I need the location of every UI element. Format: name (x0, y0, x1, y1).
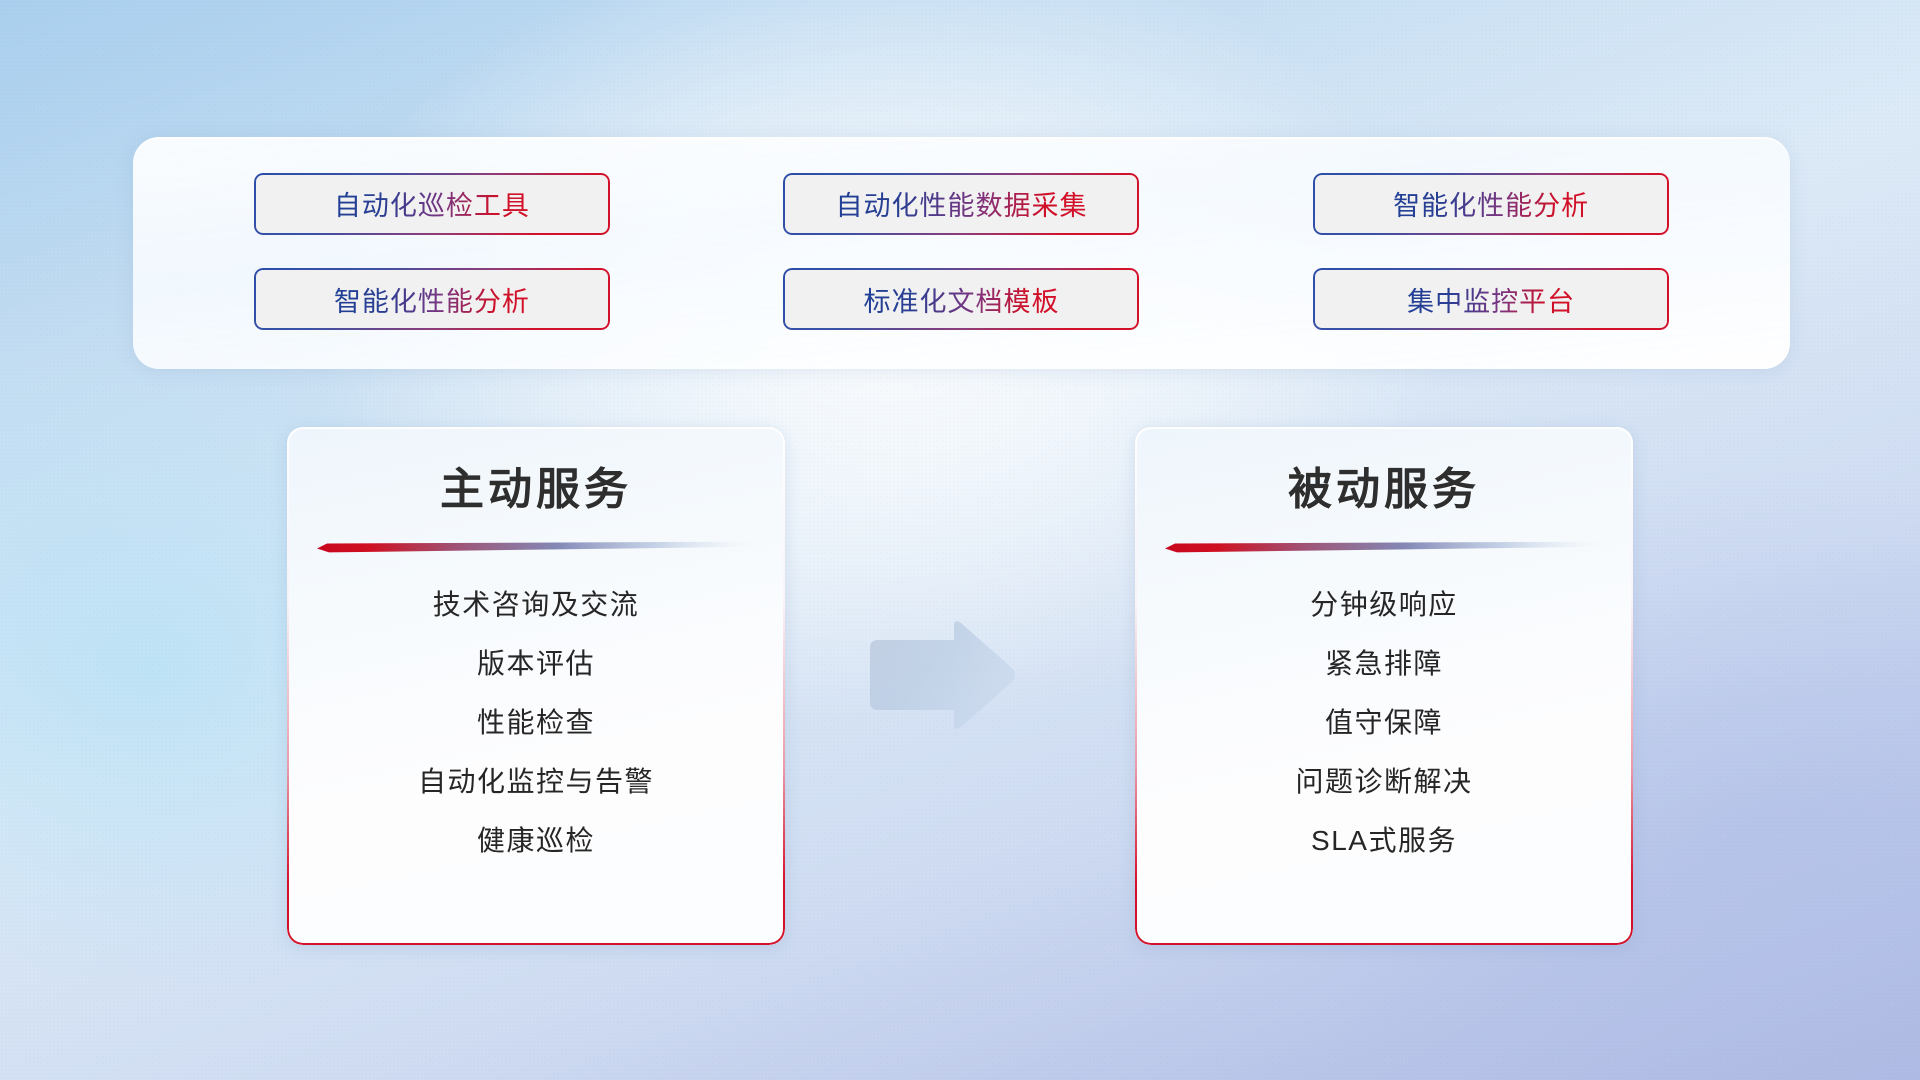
list-item: 版本评估 (477, 646, 595, 682)
capability-pill-label: 智能化性能分析 (334, 280, 530, 319)
service-card-reactive: 被动服务 分钟级响应 紧急排障 值守保障 问题诊断解决 SLA式服务 (1135, 427, 1633, 945)
capability-panel: 自动化巡检工具 自动化性能数据采集 智能化性能分析 智能化性能分析 标准化文档模… (133, 137, 1790, 369)
list-item: 技术咨询及交流 (433, 587, 640, 623)
capability-pill-5[interactable]: 标准化文档模板 (783, 268, 1139, 330)
list-item: 分钟级响应 (1310, 587, 1458, 623)
service-list: 分钟级响应 紧急排障 值守保障 问题诊断解决 SLA式服务 (1135, 577, 1633, 919)
card-title: 被动服务 (1135, 453, 1633, 517)
capability-pill-label: 智能化性能分析 (1393, 184, 1589, 223)
card-title: 主动服务 (287, 453, 785, 517)
capability-pill-2[interactable]: 自动化性能数据采集 (783, 173, 1139, 235)
capability-pill-label: 自动化巡检工具 (334, 184, 530, 223)
list-item: 健康巡检 (477, 823, 595, 859)
list-item: 紧急排障 (1325, 646, 1443, 682)
capability-pill-3[interactable]: 智能化性能分析 (1313, 173, 1669, 235)
capability-pill-label: 标准化文档模板 (863, 280, 1059, 319)
capability-pill-6[interactable]: 集中监控平台 (1313, 268, 1669, 330)
title-underline-gradient (1165, 541, 1601, 553)
capability-grid: 自动化巡检工具 自动化性能数据采集 智能化性能分析 智能化性能分析 标准化文档模… (133, 138, 1790, 369)
service-card-proactive: 主动服务 技术咨询及交流 版本评估 性能检查 自动化监控与告警 健康巡检 (287, 427, 785, 945)
flow-arrow-right-icon (862, 616, 1018, 734)
list-item: SLA式服务 (1311, 823, 1457, 859)
capability-pill-4[interactable]: 智能化性能分析 (254, 268, 610, 330)
capability-pill-label: 集中监控平台 (1407, 280, 1575, 319)
capability-pill-label: 自动化性能数据采集 (835, 184, 1087, 223)
list-item: 问题诊断解决 (1295, 764, 1472, 800)
service-list: 技术咨询及交流 版本评估 性能检查 自动化监控与告警 健康巡检 (287, 577, 785, 919)
list-item: 性能检查 (477, 705, 595, 741)
title-underline-gradient (317, 541, 753, 553)
list-item: 值守保障 (1325, 705, 1443, 741)
slide-canvas: 自动化巡检工具 自动化性能数据采集 智能化性能分析 智能化性能分析 标准化文档模… (0, 0, 1920, 1080)
list-item: 自动化监控与告警 (418, 764, 654, 800)
capability-pill-1[interactable]: 自动化巡检工具 (254, 173, 610, 235)
